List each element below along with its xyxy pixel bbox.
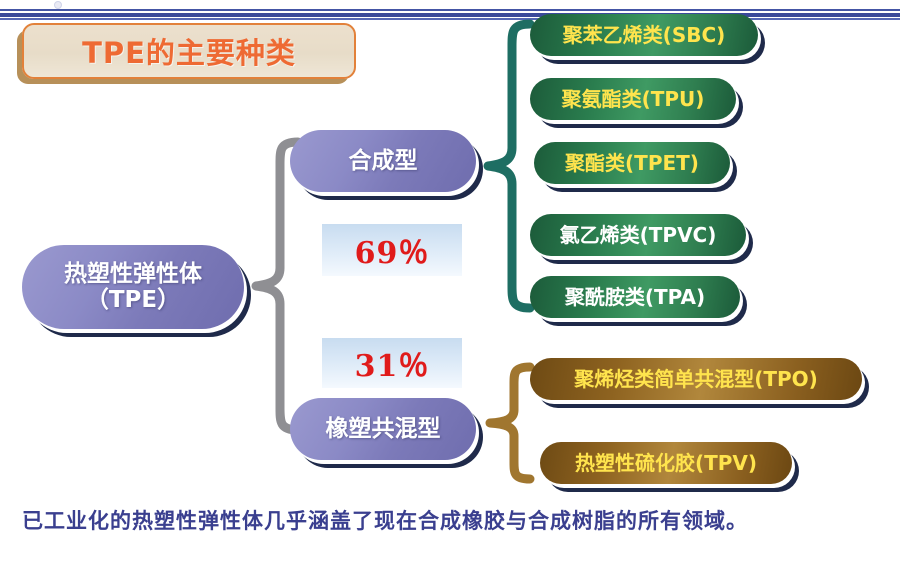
leaf-tpv-label: 热塑性硫化胶(TPV) [575, 452, 757, 475]
leaf-tpo[interactable]: 聚烯烃类简单共混型(TPO) [530, 358, 862, 400]
brace-synthetic-to-items [482, 18, 542, 313]
decorative-dot-icon [54, 1, 62, 9]
leaf-tpa[interactable]: 聚酰胺类(TPA) [530, 276, 740, 318]
percent-plate-blend: 31％ [322, 338, 462, 388]
slide-canvas: TPE的主要种类 热塑性弹性体 （TPE） 合成型 橡塑共混型 69％ 31％ … [0, 0, 900, 566]
node-root-label: 热塑性弹性体 （TPE） [64, 261, 202, 314]
leaf-tpa-label: 聚酰胺类(TPA) [565, 286, 705, 309]
leaf-tpet[interactable]: 聚酯类(TPET) [534, 142, 730, 184]
node-root-line1: 热塑性弹性体 [64, 261, 202, 287]
leaf-tpvc-label: 氯乙烯类(TPVC) [560, 224, 717, 247]
leaf-tpu[interactable]: 聚氨酯类(TPU) [530, 78, 736, 120]
header-rules [0, 0, 900, 22]
percent-plate-synthetic: 69％ [322, 224, 462, 276]
node-branch-blend[interactable]: 橡塑共混型 [290, 398, 476, 460]
node-branch-synthetic-label: 合成型 [349, 148, 418, 174]
node-branch-blend-label: 橡塑共混型 [326, 416, 441, 442]
node-branch-synthetic[interactable]: 合成型 [290, 130, 476, 192]
rule-line-1 [0, 9, 900, 11]
slide-caption: 已工业化的热塑性弹性体几乎涵盖了现在合成橡胶与合成树脂的所有领域。 [22, 505, 882, 535]
node-root-line2: （TPE） [86, 287, 180, 313]
percent-value-blend: 31％ [355, 341, 430, 385]
leaf-sbc[interactable]: 聚苯乙烯类(SBC) [530, 14, 758, 56]
leaf-tpo-label: 聚烯烃类简单共混型(TPO) [574, 368, 818, 391]
node-root-tpe[interactable]: 热塑性弹性体 （TPE） [22, 245, 244, 329]
rule-line-5 [0, 18, 900, 20]
slide-title-box: TPE的主要种类 [22, 23, 356, 79]
page-title: TPE的主要种类 [82, 30, 296, 72]
leaf-tpu-label: 聚氨酯类(TPU) [562, 88, 705, 111]
leaf-tpet-label: 聚酯类(TPET) [565, 152, 699, 175]
leaf-tpv[interactable]: 热塑性硫化胶(TPV) [540, 442, 792, 484]
leaf-tpvc[interactable]: 氯乙烯类(TPVC) [530, 214, 746, 256]
leaf-sbc-label: 聚苯乙烯类(SBC) [563, 24, 726, 47]
percent-value-synthetic: 69％ [355, 228, 430, 272]
